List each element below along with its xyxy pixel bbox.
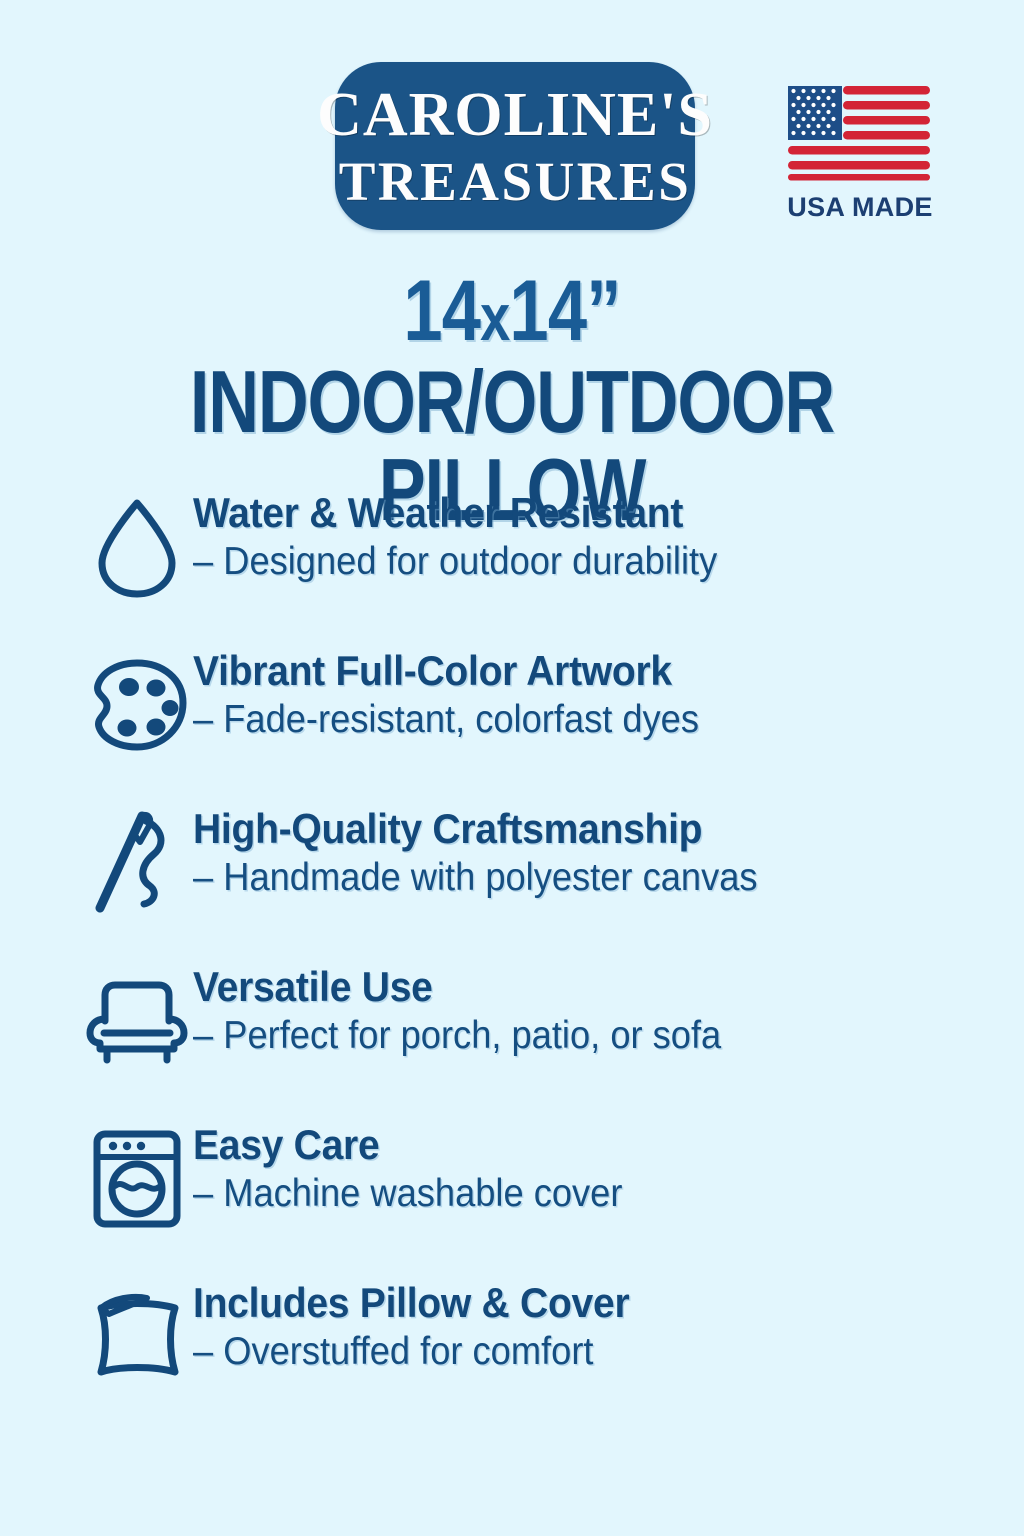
feature-title: Includes Pillow & Cover xyxy=(193,1282,956,1325)
size-multiplier: x xyxy=(480,280,509,354)
water-drop-icon xyxy=(78,492,196,602)
header: CAROLINE'S TREASURES xyxy=(0,62,1024,237)
feature-title: Water & Weather Resistant xyxy=(193,492,956,535)
us-flag-icon xyxy=(786,84,932,181)
feature-subtitle: – Handmade with polyester canvas xyxy=(193,858,956,899)
feature-title: Vibrant Full-Color Artwork xyxy=(193,650,956,693)
size-number-second: 14” xyxy=(509,263,620,359)
feature-title: Easy Care xyxy=(193,1124,956,1167)
feature-subtitle: – Fade-resistant, colorfast dyes xyxy=(193,700,956,741)
size-number-first: 14 xyxy=(403,263,480,359)
feature-list: Water & Weather Resistant – Designed for… xyxy=(0,492,1024,1440)
feature-text-block: Vibrant Full-Color Artwork – Fade-resist… xyxy=(193,650,1013,741)
feature-text-block: Easy Care – Machine washable cover xyxy=(193,1124,1013,1215)
feature-subtitle: – Perfect for porch, patio, or sofa xyxy=(193,1016,956,1057)
feature-title: Versatile Use xyxy=(193,966,956,1009)
usa-made-badge: USA MADE xyxy=(786,84,934,223)
list-item: Water & Weather Resistant – Designed for… xyxy=(0,492,1024,650)
feature-title: High-Quality Craftsmanship xyxy=(193,808,956,851)
list-item: Easy Care – Machine washable cover xyxy=(0,1124,1024,1282)
size-heading: 14x14” xyxy=(92,268,932,354)
armchair-icon xyxy=(78,966,196,1076)
list-item: Includes Pillow & Cover – Overstuffed fo… xyxy=(0,1282,1024,1440)
pillow-icon xyxy=(78,1282,196,1392)
brand-logo-line2: TREASURES xyxy=(339,154,692,209)
feature-text-block: High-Quality Craftsmanship – Handmade wi… xyxy=(193,808,1013,899)
usa-made-label: USA MADE xyxy=(786,192,934,223)
feature-subtitle: – Overstuffed for comfort xyxy=(193,1332,956,1373)
brand-logo-line1: CAROLINE'S xyxy=(317,84,713,146)
feature-text-block: Includes Pillow & Cover – Overstuffed fo… xyxy=(193,1282,1013,1373)
feature-subtitle: – Machine washable cover xyxy=(193,1174,956,1215)
needle-and-thread-icon xyxy=(78,808,196,918)
feature-text-block: Versatile Use – Perfect for porch, patio… xyxy=(193,966,1013,1057)
paint-palette-icon xyxy=(78,650,196,760)
brand-logo: CAROLINE'S TREASURES xyxy=(335,62,695,230)
list-item: High-Quality Craftsmanship – Handmade wi… xyxy=(0,808,1024,966)
feature-subtitle: – Designed for outdoor durability xyxy=(193,542,956,583)
list-item: Versatile Use – Perfect for porch, patio… xyxy=(0,966,1024,1124)
feature-text-block: Water & Weather Resistant – Designed for… xyxy=(193,492,1013,583)
washing-machine-icon xyxy=(78,1124,196,1234)
list-item: Vibrant Full-Color Artwork – Fade-resist… xyxy=(0,650,1024,808)
